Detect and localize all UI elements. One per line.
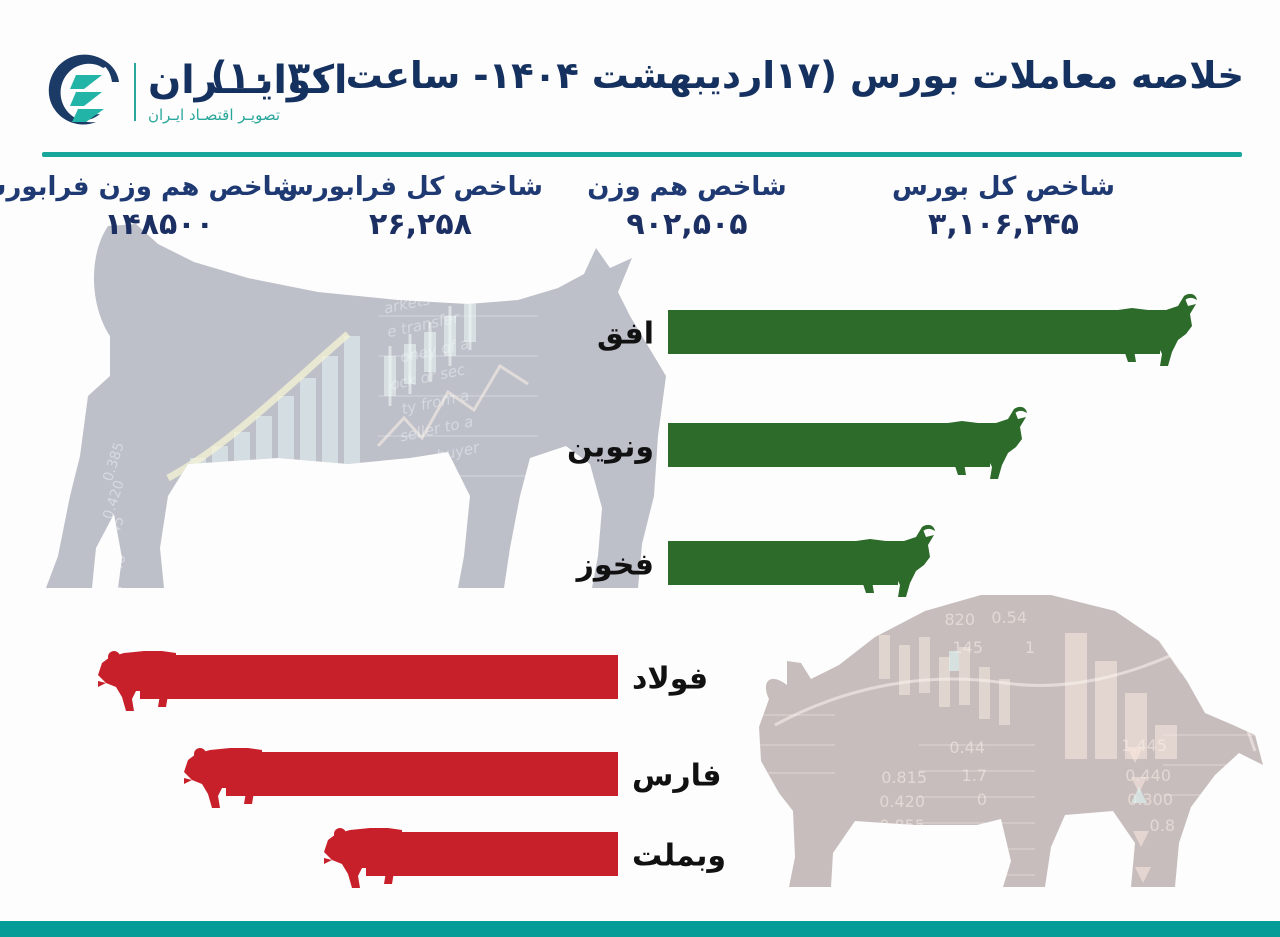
gainer-bar-label: فخوز	[577, 548, 654, 583]
footer-accent-bar	[0, 921, 1280, 937]
gainer-bar-row[interactable]: ونوین	[668, 419, 990, 475]
loser-bar-label: فارس	[632, 759, 722, 794]
loser-bar-label: فولاد	[632, 662, 708, 697]
loser-bar-label: وبملت	[632, 839, 726, 874]
bull-head-icon	[850, 519, 936, 605]
red-bear-bar[interactable]	[226, 748, 618, 804]
bull-head-icon	[1112, 288, 1198, 374]
bull-head-icon	[942, 401, 1028, 487]
gainer-bar-row[interactable]: فخوز	[668, 537, 898, 593]
gainer-bar-row[interactable]: افق	[668, 306, 1160, 362]
gainer-bar-label: ونوین	[567, 430, 654, 465]
loser-bar-row[interactable]: وبملت	[366, 828, 618, 884]
bear-head-icon	[96, 633, 182, 719]
infographic-canvas: arkets mea e transfer oney of a ock or s…	[0, 0, 1280, 937]
green-bull-bar[interactable]	[668, 306, 1160, 362]
bar-chart-layer: افق ونوین فخوز	[0, 0, 1280, 937]
loser-bar-row[interactable]: فولاد	[140, 651, 618, 707]
bear-head-icon	[182, 730, 268, 816]
gainer-bar-label: افق	[597, 317, 654, 352]
loser-bar-row[interactable]: فارس	[226, 748, 618, 804]
red-bear-bar[interactable]	[140, 651, 618, 707]
bear-head-icon	[322, 810, 408, 896]
